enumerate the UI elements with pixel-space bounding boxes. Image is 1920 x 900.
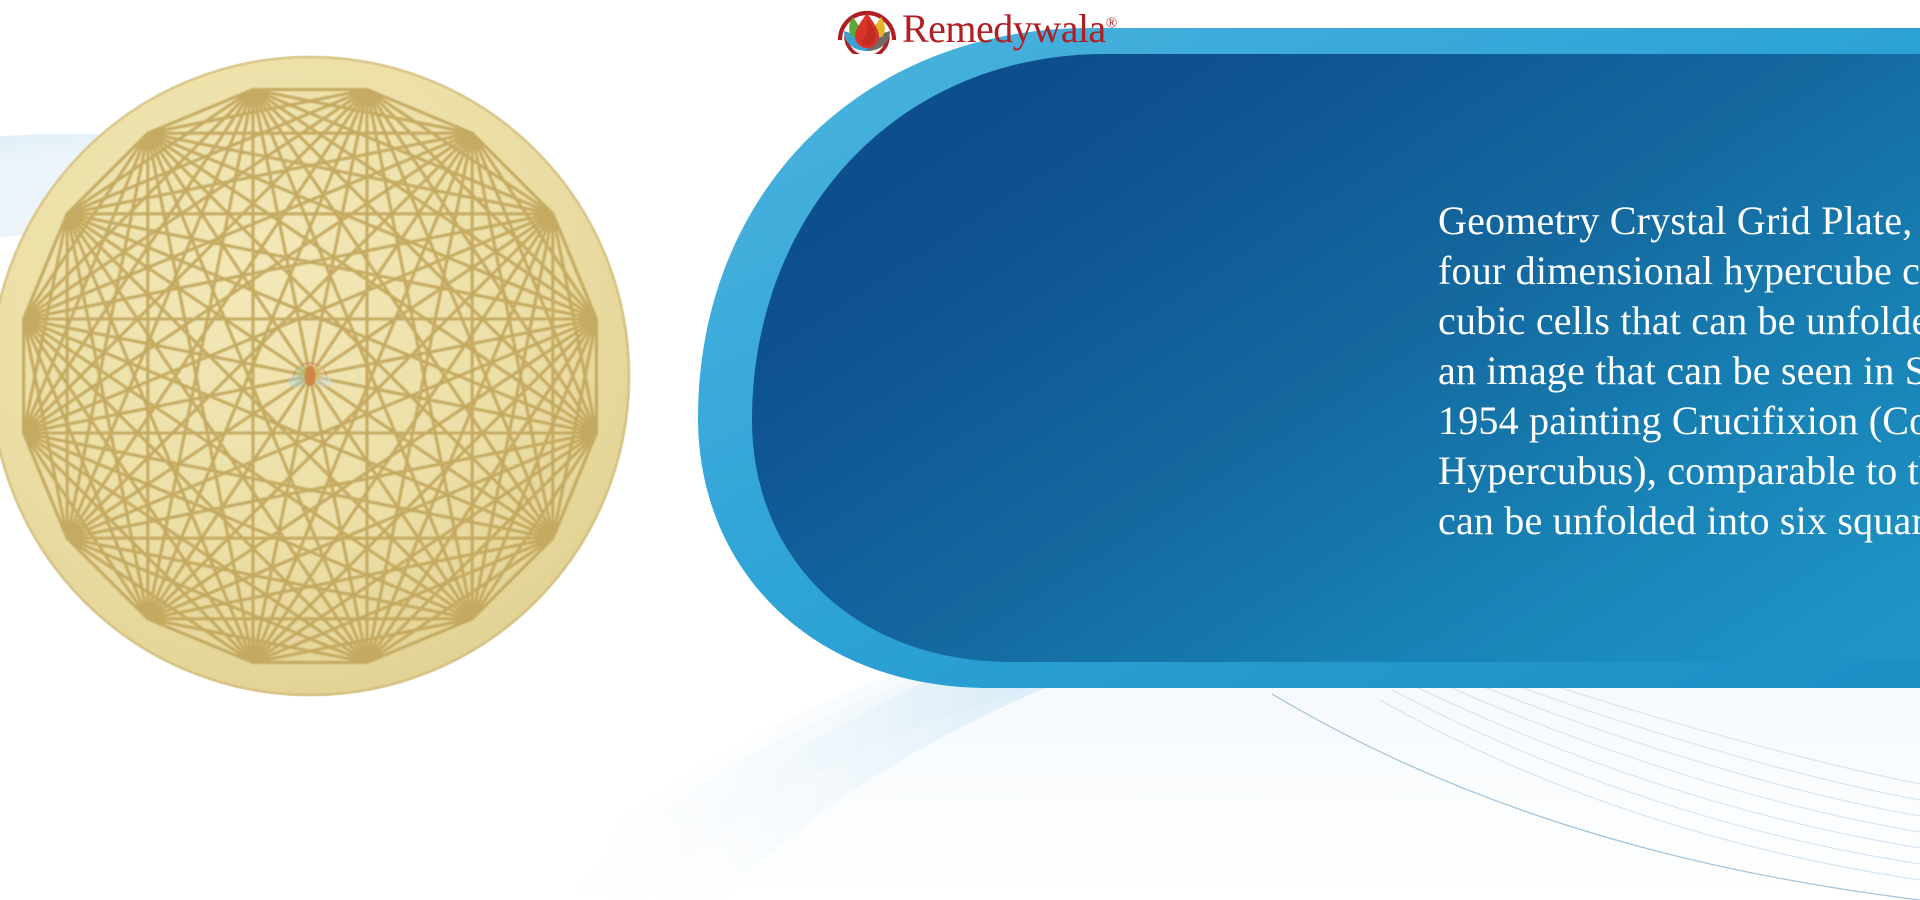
brand-name-text: Remedywala (902, 6, 1106, 51)
product-photo (0, 36, 668, 716)
background-hairline-accent (1272, 694, 1920, 900)
crystal-grid-plate-image (0, 36, 668, 716)
brand-name: Remedywala® (902, 9, 1117, 49)
brand-logo[interactable]: Remedywala® (836, 2, 1117, 56)
background-hairlines (1380, 656, 1920, 880)
poster-canvas: Geometry Crystal Grid Plate, The tessera… (0, 0, 1920, 900)
info-panel: Geometry Crystal Grid Plate, The tessera… (660, 28, 1920, 688)
panel-body-text: Geometry Crystal Grid Plate, The tessera… (1438, 196, 1920, 546)
registered-mark: ® (1106, 16, 1117, 32)
lotus-drop-icon (836, 4, 898, 54)
